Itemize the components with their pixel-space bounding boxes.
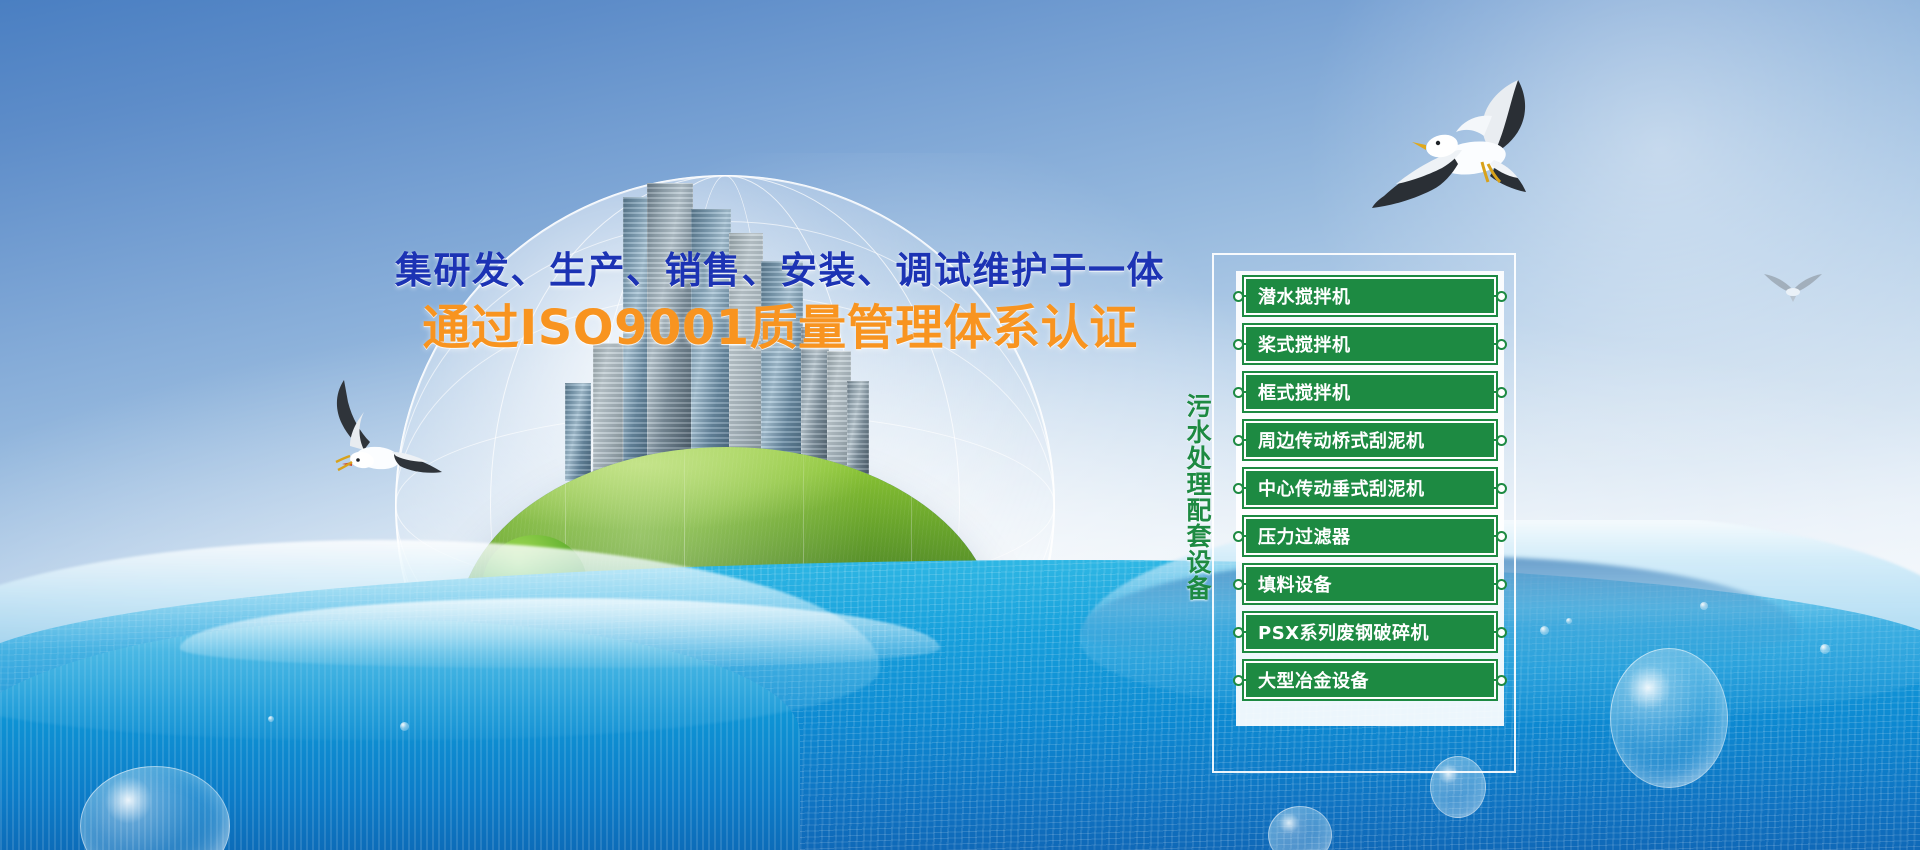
list-item[interactable]: 周边传动桥式刮泥机 <box>1244 421 1496 459</box>
product-label: 周边传动桥式刮泥机 <box>1258 427 1425 453</box>
product-label: 潜水搅拌机 <box>1258 283 1351 309</box>
droplet <box>1820 644 1830 654</box>
knob-left-icon <box>1233 435 1244 446</box>
knob-right-icon <box>1496 675 1507 686</box>
droplet <box>400 722 409 731</box>
knob-left-icon <box>1233 483 1244 494</box>
product-plate[interactable]: 潜水搅拌机 <box>1244 277 1496 315</box>
knob-left-icon <box>1233 531 1244 542</box>
knob-left-icon <box>1233 387 1244 398</box>
knob-right-icon <box>1496 291 1507 302</box>
seagull-medium-left-icon <box>296 374 446 484</box>
bubble-large-right <box>1610 648 1728 788</box>
droplet <box>1566 618 1572 624</box>
list-item[interactable]: PSX系列废钢破碎机 <box>1244 613 1496 651</box>
product-label: PSX系列废钢破碎机 <box>1258 619 1429 645</box>
product-label: 桨式搅拌机 <box>1258 331 1351 357</box>
knob-left-icon <box>1233 339 1244 350</box>
product-plate[interactable]: 压力过滤器 <box>1244 517 1496 555</box>
droplet <box>1700 602 1708 610</box>
product-list: 潜水搅拌机 桨式搅拌机 框式搅拌机 <box>1244 277 1496 709</box>
list-item[interactable]: 填料设备 <box>1244 565 1496 603</box>
knob-right-icon <box>1496 483 1507 494</box>
product-plate[interactable]: PSX系列废钢破碎机 <box>1244 613 1496 651</box>
product-label: 中心传动垂式刮泥机 <box>1258 475 1425 501</box>
list-item[interactable]: 框式搅拌机 <box>1244 373 1496 411</box>
knob-left-icon <box>1233 291 1244 302</box>
knob-left-icon <box>1233 627 1244 638</box>
headline-group: 集研发、生产、销售、安装、调试维护于一体 通过ISO9001质量管理体系认证 <box>380 248 1180 358</box>
list-item[interactable]: 压力过滤器 <box>1244 517 1496 555</box>
droplet <box>268 716 274 722</box>
knob-left-icon <box>1233 675 1244 686</box>
droplet <box>1540 626 1549 635</box>
list-item[interactable]: 桨式搅拌机 <box>1244 325 1496 363</box>
headline-primary: 集研发、生产、销售、安装、调试维护于一体 <box>380 248 1180 294</box>
product-plate[interactable]: 周边传动桥式刮泥机 <box>1244 421 1496 459</box>
knob-left-icon <box>1233 579 1244 590</box>
headline-secondary: 通过ISO9001质量管理体系认证 <box>380 300 1180 358</box>
product-plate[interactable]: 桨式搅拌机 <box>1244 325 1496 363</box>
product-label: 压力过滤器 <box>1258 523 1351 549</box>
knob-right-icon <box>1496 435 1507 446</box>
product-plate[interactable]: 中心传动垂式刮泥机 <box>1244 469 1496 507</box>
product-label: 大型冶金设备 <box>1258 667 1369 693</box>
knob-right-icon <box>1496 339 1507 350</box>
list-item[interactable]: 潜水搅拌机 <box>1244 277 1496 315</box>
seagull-small-far-right-icon <box>1758 266 1828 310</box>
product-list-panel: 污水处理配套设备 潜水搅拌机 桨式搅拌机 <box>1212 253 1516 773</box>
water-icon <box>0 520 1920 850</box>
product-label: 填料设备 <box>1258 571 1332 597</box>
promotional-banner: 集研发、生产、销售、安装、调试维护于一体 通过ISO9001质量管理体系认证 污… <box>0 0 1920 850</box>
list-item[interactable]: 中心传动垂式刮泥机 <box>1244 469 1496 507</box>
seagull-large-right-icon <box>1368 58 1598 228</box>
knob-right-icon <box>1496 627 1507 638</box>
knob-right-icon <box>1496 531 1507 542</box>
product-plate[interactable]: 框式搅拌机 <box>1244 373 1496 411</box>
product-plate[interactable]: 填料设备 <box>1244 565 1496 603</box>
panel-vertical-title: 污水处理配套设备 <box>1176 393 1210 601</box>
knob-right-icon <box>1496 579 1507 590</box>
product-label: 框式搅拌机 <box>1258 379 1351 405</box>
knob-right-icon <box>1496 387 1507 398</box>
product-plate[interactable]: 大型冶金设备 <box>1244 661 1496 699</box>
list-item[interactable]: 大型冶金设备 <box>1244 661 1496 699</box>
